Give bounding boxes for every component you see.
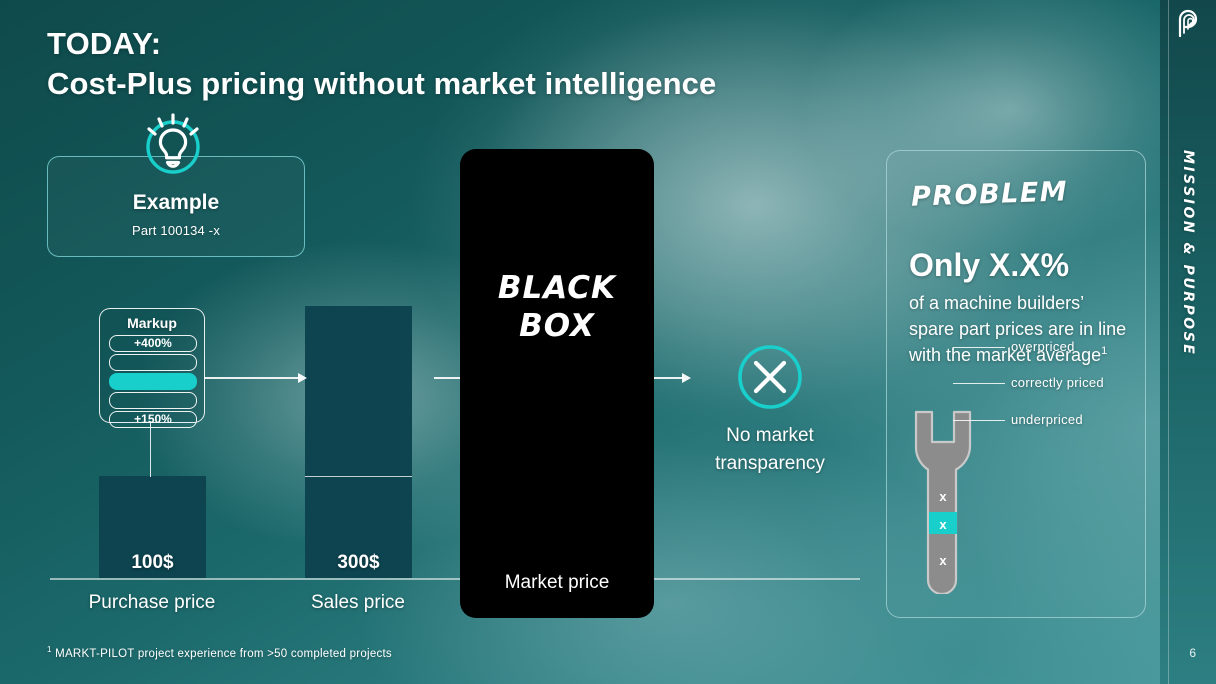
footnote: 1 MARKT-PILOT project experience from >5… — [47, 645, 392, 660]
right-rail: MISSION & PURPOSE 6 — [1160, 0, 1216, 684]
no-market-transparency-label: No market transparency — [680, 422, 860, 477]
legend-label-correctly-priced: correctly priced — [1011, 375, 1104, 390]
markt-pilot-logo-icon — [1174, 9, 1204, 39]
markup-connector-line — [150, 421, 151, 477]
lightbulb-icon — [140, 111, 206, 177]
chart-baseline — [50, 578, 860, 580]
bar-value-sales-price: 300$ — [305, 552, 412, 574]
problem-headline: Only X.X% — [909, 247, 1069, 284]
footnote-marker: 1 — [47, 645, 52, 654]
page-number: 6 — [1189, 646, 1196, 660]
markup-pill-5: +150% — [109, 411, 197, 428]
x-circle-icon — [737, 344, 803, 410]
markup-pill-2 — [109, 354, 197, 371]
problem-body: of a machine builders’ spare part prices… — [909, 291, 1127, 369]
problem-kicker: PROBLEM — [911, 176, 1069, 212]
example-title: Example — [48, 191, 304, 215]
heading-line-1: TODAY: — [47, 25, 907, 64]
black-box-panel: BLACK BOX Market price — [460, 149, 654, 618]
black-box-text-line-2: BOX — [460, 308, 654, 346]
markup-pill-4 — [109, 392, 197, 409]
example-subtitle: Part 100134 -x — [48, 223, 304, 238]
black-box-text-line-1: BLACK — [460, 270, 654, 308]
rail-label: MISSION & PURPOSE — [1180, 150, 1196, 356]
markup-pill-3-selected — [109, 373, 197, 390]
wrench-icon: x x x — [907, 404, 979, 594]
bar-sales-split-line — [305, 476, 412, 477]
heading-line-2: Cost-Plus pricing without market intelli… — [47, 64, 907, 104]
legend-leader-line-underpriced — [953, 420, 1005, 421]
wrench-marker-underpriced: x — [939, 553, 947, 568]
slide: TODAY: Cost-Plus pricing without market … — [0, 0, 1216, 684]
problem-panel: PROBLEM Only X.X% of a machine builders’… — [886, 150, 1146, 618]
markup-box: Markup +400% +150% — [99, 308, 205, 423]
markup-title: Markup — [100, 315, 204, 331]
wrench-marker-overpriced: x — [939, 489, 947, 504]
problem-body-footnote-marker: 1 — [1101, 345, 1107, 357]
bar-label-sales-price: Sales price — [258, 592, 458, 614]
arrow-blackbox-to-result-head-icon — [682, 373, 691, 383]
footnote-text: MARKT-PILOT project experience from >50 … — [55, 648, 392, 660]
wrench-marker-correctly-priced: x — [939, 517, 947, 532]
bar-label-purchase-price: Purchase price — [52, 592, 252, 614]
legend-leader-line-overpriced — [953, 347, 1005, 348]
page-title: TODAY: Cost-Plus pricing without market … — [47, 25, 907, 104]
problem-body-text: of a machine builders’ spare part prices… — [909, 293, 1126, 365]
bar-sales-price — [305, 306, 412, 578]
legend-label-overpriced: overpriced — [1011, 339, 1075, 354]
arrow-markup-to-sales-head-icon — [298, 373, 307, 383]
black-box-text: BLACK BOX — [460, 270, 654, 346]
bar-value-purchase-price: 100$ — [99, 552, 206, 574]
bar-label-market-price: Market price — [460, 572, 654, 594]
legend-leader-line-correctly-priced — [953, 383, 1005, 384]
markup-pill-1: +400% — [109, 335, 197, 352]
rail-text-wrap: MISSION & PURPOSE — [1160, 150, 1216, 450]
legend-label-underpriced: underpriced — [1011, 412, 1083, 427]
arrow-markup-to-sales-line — [204, 377, 300, 379]
